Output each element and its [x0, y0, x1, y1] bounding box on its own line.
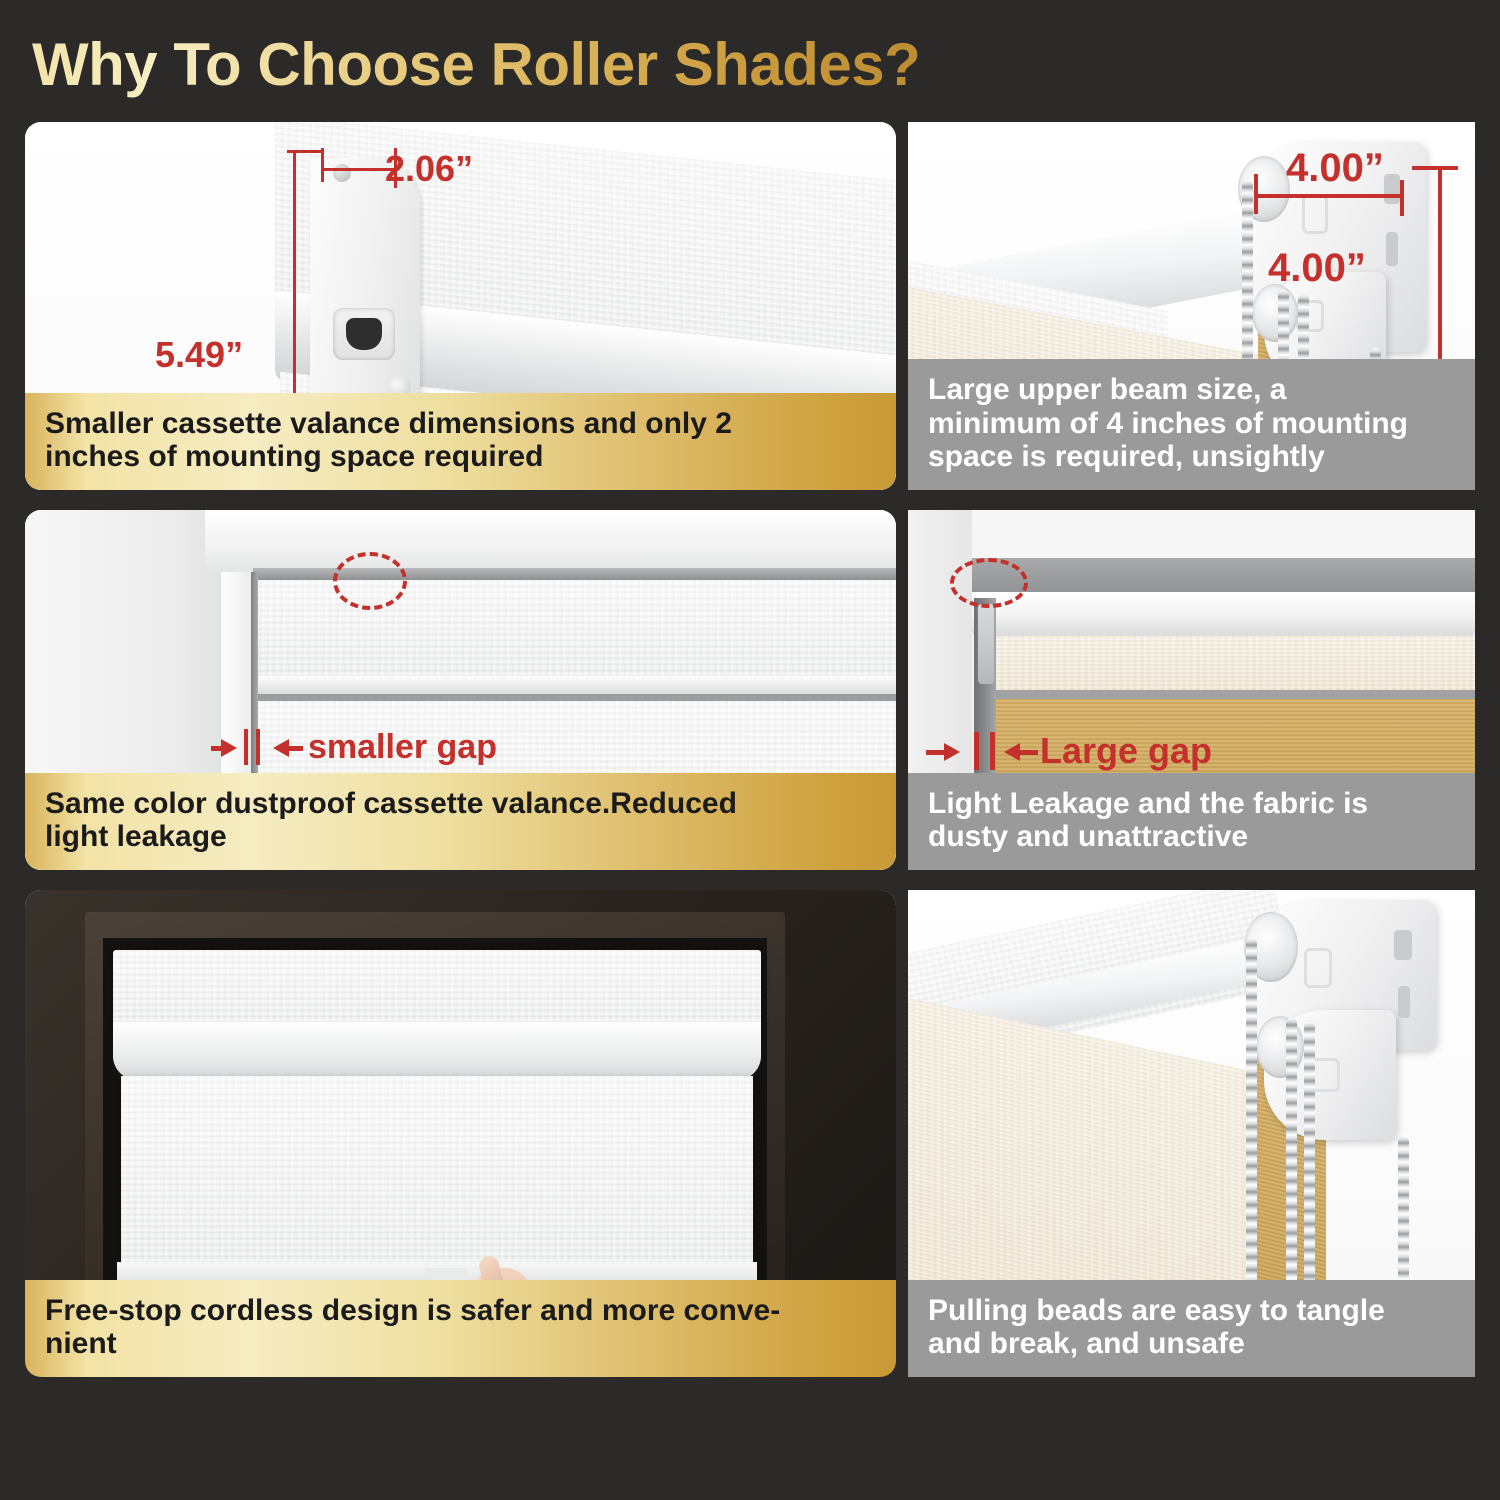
window-head-trim [205, 510, 896, 572]
caption-line: Free-stop cordless design is safer and m… [45, 1294, 876, 1328]
bracket-emboss-upper [1304, 948, 1332, 988]
gap-tick-b [990, 732, 995, 770]
cassette-valance-head [113, 950, 761, 1028]
gap-arrow-left-stem [211, 746, 225, 751]
gap-highlight-ellipse [950, 558, 1028, 608]
caption-line: dusty and unattractive [928, 820, 1455, 854]
height-dim-label: 5.49” [155, 334, 243, 376]
bead-pulley-lower [1252, 284, 1298, 342]
fabric-shadow-line [988, 690, 1475, 699]
caption-dustproof-cassette-valance: Same color dustproof cassette valance.Re… [25, 773, 896, 870]
height-dim-tick-top [287, 150, 323, 153]
bracket-slot-upper [1384, 174, 1400, 204]
caption-line: light leakage [45, 820, 876, 854]
roller-shade-fabric [121, 1076, 753, 1272]
gap-arrow-right [273, 739, 289, 757]
width-dim-label: 2.06” [385, 148, 473, 190]
beam-height-dim-label: 4.00” [1268, 246, 1366, 291]
caption-pulling-beads-tangle: Pulling beads are easy to tangle and bre… [908, 1280, 1475, 1377]
exposed-bracket [978, 604, 994, 684]
panel-pulling-beads-tangle[interactable]: Pulling beads are easy to tangle and bre… [908, 890, 1475, 1377]
caption-line: Large upper beam size, a [928, 373, 1455, 407]
fabric-cream-band [988, 636, 1475, 692]
gap-tick-a [244, 729, 248, 765]
bracket-emboss-upper [1302, 194, 1328, 234]
panel-dustproof-cassette-valance[interactable]: smaller gap Same color dustproof cassett… [25, 510, 896, 870]
panel-cassette-valance-dimensions[interactable]: 2.06” 5.49” Smaller cassette valance dim… [25, 122, 896, 490]
gap-arrow-right [1004, 743, 1020, 761]
caption-large-upper-beam: Large upper beam size, a minimum of 4 in… [908, 359, 1475, 490]
panel-large-upper-beam[interactable]: 4.00” 4.00” Large upper beam size, a min… [908, 122, 1475, 490]
bracket-slot-upper [1394, 930, 1412, 960]
shade-pull-tab [425, 1268, 467, 1278]
caption-line: Light Leakage and the fabric is [928, 787, 1455, 821]
panel-free-stop-cordless-design[interactable]: Free-stop cordless design is safer and m… [25, 890, 896, 1377]
beam-width-tick-right [1400, 180, 1404, 216]
gap-arrow-right-stem [289, 746, 303, 751]
bracket-slot-lower [1398, 986, 1410, 1018]
bracket-slot-lower [1386, 232, 1398, 266]
gap-tick-a [974, 732, 979, 770]
cassette-lower-rail [253, 676, 896, 694]
caption-line: nient [45, 1327, 876, 1361]
caption-line: Pulling beads are easy to tangle [928, 1294, 1455, 1328]
beam-height-tick-top [1412, 166, 1458, 170]
gap-arrow-left-stem [926, 750, 948, 755]
exposed-roller-tube [972, 592, 1475, 638]
beam-height-dim-line [1438, 166, 1442, 382]
cassette-front-rail [113, 1022, 761, 1080]
caption-line: inches of mounting space required [45, 440, 876, 474]
gap-callout-label: smaller gap [308, 728, 497, 767]
caption-light-leakage-dusty-fabric: Light Leakage and the fabric is dusty an… [908, 773, 1475, 870]
caption-cassette-valance-dimensions: Smaller cassette valance dimensions and … [25, 393, 896, 490]
caption-line: Smaller cassette valance dimensions and … [45, 407, 876, 441]
caption-line: and break, and unsafe [928, 1327, 1455, 1361]
beam-width-dim-line [1254, 194, 1404, 198]
width-dim-tick-left [321, 148, 324, 182]
caption-line: Same color dustproof cassette valance.Re… [45, 787, 876, 821]
cassette-shadow-line [253, 694, 896, 701]
gap-tick-b [256, 729, 260, 765]
gap-highlight-ellipse [333, 552, 407, 610]
caption-line: space is required, unsightly [928, 440, 1455, 474]
caption-free-stop-cordless-design: Free-stop cordless design is safer and m… [25, 1280, 896, 1377]
beam-width-dim-label: 4.00” [1286, 146, 1384, 191]
gap-arrow-right-stem [1020, 750, 1038, 755]
gap-callout-label: Large gap [1040, 730, 1212, 772]
comparison-grid: 2.06” 5.49” Smaller cassette valance dim… [0, 0, 1500, 1500]
beam-width-tick-left [1254, 174, 1258, 214]
end-cap-screw-top [333, 164, 351, 182]
panel-light-leakage-dusty-fabric[interactable]: Large gap Light Leakage and the fabric i… [908, 510, 1475, 870]
end-cap-hole [346, 318, 382, 350]
caption-line: minimum of 4 inches of mounting [928, 407, 1455, 441]
